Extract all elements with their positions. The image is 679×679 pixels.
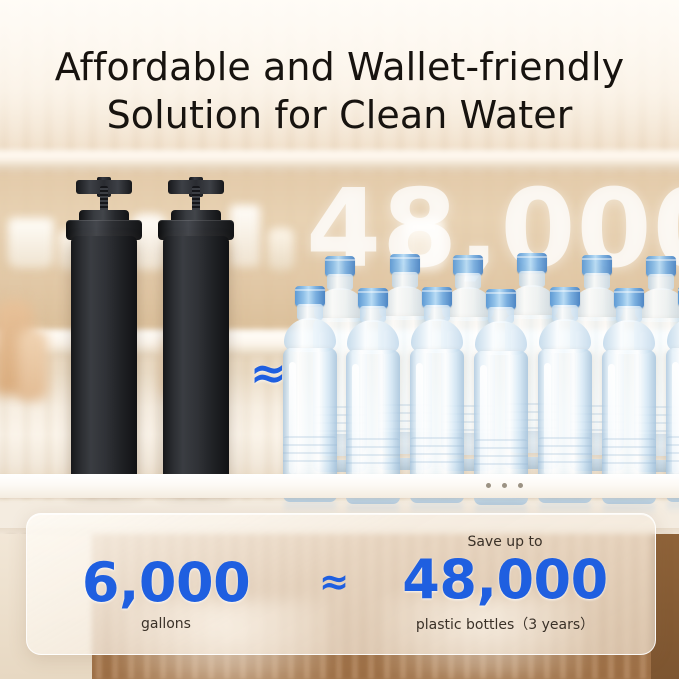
approx-equals-icon: ≈ — [250, 352, 287, 396]
gallons-label: gallons — [35, 616, 297, 632]
bottle-cap-icon — [390, 254, 420, 274]
bottle-ribs — [346, 438, 400, 468]
bottle-ribs — [602, 438, 656, 468]
bottle-ribs — [283, 436, 337, 466]
bottle-ribs — [666, 436, 679, 466]
bottle-cap-icon — [325, 256, 355, 276]
bottle-cap-icon — [486, 289, 516, 309]
bottle-cap-icon — [550, 287, 580, 307]
ellipsis-dot — [486, 483, 491, 488]
cartridge-body — [71, 236, 137, 488]
shelf-jar — [230, 205, 260, 267]
product-marketing-image: 48,000 — [0, 0, 679, 679]
bottle-cap-icon — [614, 288, 644, 308]
gallons-value: 6,000 — [35, 555, 297, 610]
water-filter-cartridge-right — [163, 176, 229, 488]
spacer — [297, 607, 371, 623]
bottles-label: plastic bottles（3 years） — [371, 614, 639, 634]
page-title: Affordable and Wallet-friendly Solution … — [0, 44, 679, 140]
bottle-cap-icon — [358, 288, 388, 308]
approx-equals-icon: ≈ — [297, 565, 371, 601]
approx-operator: ≈ — [297, 546, 371, 623]
bottle-cap-icon — [295, 286, 325, 306]
bottle-cap-icon — [582, 255, 612, 275]
bottle-cap-icon — [422, 287, 452, 307]
headline-line-1: Affordable and Wallet-friendly — [0, 44, 679, 92]
bottles-value: 48,000 — [371, 552, 639, 607]
bottle-ribs — [474, 439, 528, 469]
background-vase — [18, 330, 48, 400]
bottle-cap-icon — [646, 256, 676, 276]
bottles-stat: Save up to 48,000 plastic bottles（3 year… — [371, 534, 639, 633]
more-bottles-ellipsis — [486, 483, 523, 488]
shelf-jar — [8, 218, 54, 268]
plastic-bottle-group — [288, 250, 679, 498]
counter-surface — [0, 474, 679, 498]
water-filter-cartridge-left — [71, 176, 137, 488]
bottle-ribs — [538, 437, 592, 467]
gallons-stat: 6,000 gallons — [35, 536, 297, 632]
ellipsis-dot — [502, 483, 507, 488]
savings-stat-panel: 6,000 gallons ≈ Save up to 48,000 plasti… — [26, 513, 656, 655]
bottle-cap-icon — [453, 255, 483, 275]
bottle-ribs — [410, 437, 464, 467]
cartridge-body — [163, 236, 229, 488]
ellipsis-dot — [518, 483, 523, 488]
bottle-cap-icon — [517, 253, 547, 273]
headline-line-2: Solution for Clean Water — [0, 92, 679, 140]
